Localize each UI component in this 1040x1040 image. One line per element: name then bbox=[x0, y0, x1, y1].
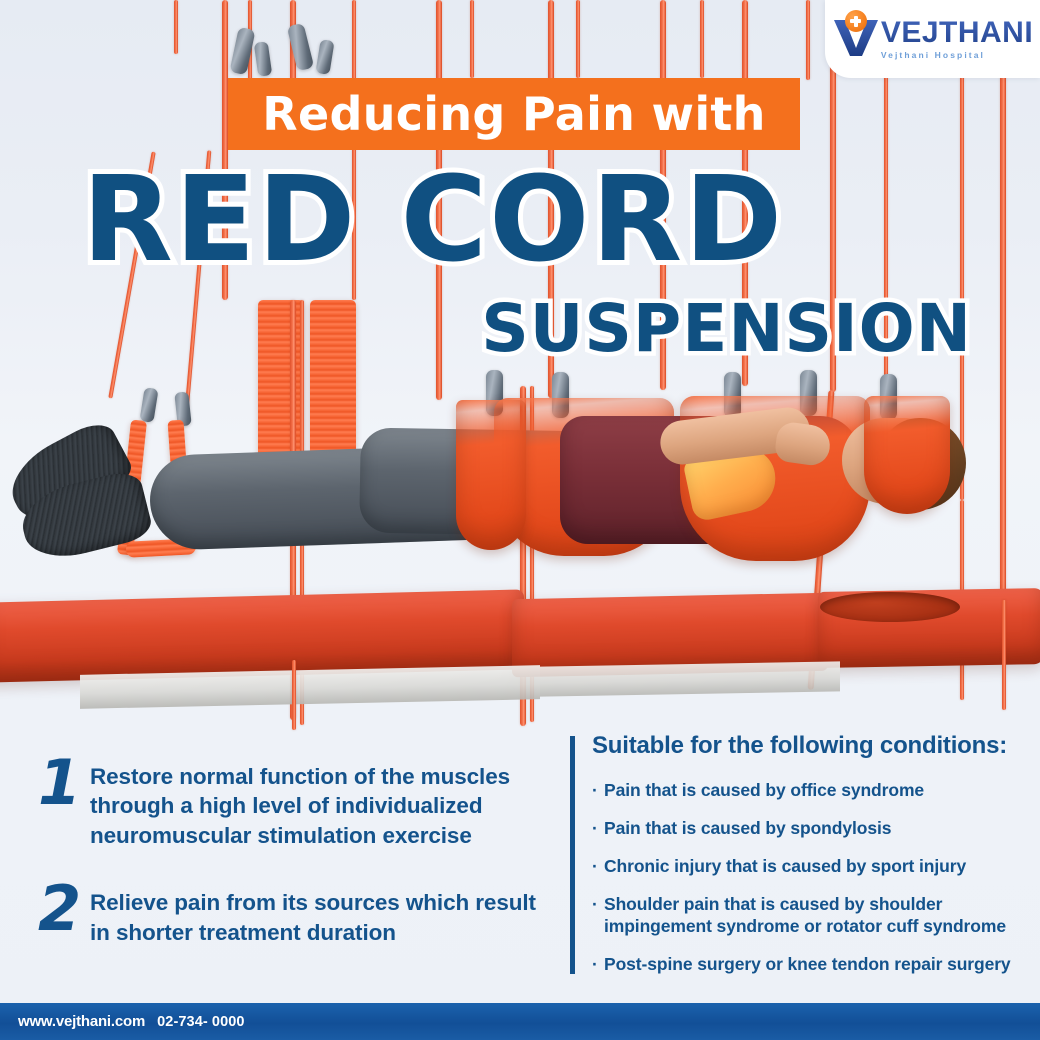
hospital-logo: VEJTHANI Vejthani Hospital bbox=[825, 0, 1040, 78]
title-banner: Reducing Pain with bbox=[228, 78, 800, 150]
footer-phone[interactable]: 02-734- 0000 bbox=[157, 1014, 244, 1030]
suspension-cord bbox=[470, 0, 474, 78]
condition-text: Pain that is caused by office syndrome bbox=[604, 779, 1040, 801]
benefits-list: 1 Restore normal function of the muscles… bbox=[38, 758, 558, 981]
conditions-panel: Suitable for the following conditions: ·… bbox=[570, 732, 1040, 991]
bullet-icon: · bbox=[592, 817, 604, 839]
suspension-cord bbox=[700, 0, 704, 78]
condition-item: · Shoulder pain that is caused by should… bbox=[592, 893, 1040, 937]
condition-item: · Post-spine surgery or knee tendon repa… bbox=[592, 953, 1040, 975]
suspension-cord bbox=[806, 0, 810, 80]
benefit-number: 2 bbox=[38, 884, 90, 935]
logo-name: VEJTHANI bbox=[881, 18, 1033, 48]
condition-item: · Pain that is caused by spondylosis bbox=[592, 817, 1040, 839]
condition-item: · Chronic injury that is caused by sport… bbox=[592, 855, 1040, 877]
footer-website[interactable]: www.vejthani.com bbox=[18, 1013, 145, 1030]
benefit-text: Restore normal function of the muscles t… bbox=[90, 762, 558, 850]
banner-text: Reducing Pain with bbox=[262, 87, 765, 141]
title-sub: SUSPENSION bbox=[82, 296, 972, 362]
condition-text: Chronic injury that is caused by sport i… bbox=[604, 855, 1040, 877]
medical-cross-icon bbox=[845, 10, 867, 32]
benefit-item: 1 Restore normal function of the muscles… bbox=[38, 758, 558, 850]
bullet-icon: · bbox=[592, 953, 604, 975]
logo-v-mark bbox=[832, 14, 880, 58]
benefit-number: 1 bbox=[38, 758, 90, 809]
table-base bbox=[540, 661, 840, 696]
bullet-icon: · bbox=[592, 779, 604, 801]
conditions-divider bbox=[570, 736, 575, 974]
logo-subtitle: Vejthani Hospital bbox=[881, 50, 1033, 60]
head-sling bbox=[864, 396, 950, 514]
suspension-cord bbox=[292, 660, 296, 730]
suspension-cord bbox=[174, 0, 178, 54]
bullet-icon: · bbox=[592, 893, 604, 937]
title-main: RED CORD bbox=[82, 163, 972, 275]
carabiner-clip bbox=[315, 39, 334, 75]
suspension-cord bbox=[1000, 0, 1006, 620]
benefit-item: 2 Relieve pain from its sources which re… bbox=[38, 884, 558, 947]
carabiner-clip bbox=[139, 387, 158, 423]
condition-item: · Pain that is caused by office syndrome bbox=[592, 779, 1040, 801]
condition-text: Post-spine surgery or knee tendon repair… bbox=[604, 953, 1040, 975]
condition-text: Shoulder pain that is caused by shoulder… bbox=[604, 893, 1040, 937]
poster-root: VEJTHANI Vejthani Hospital Reducing Pain… bbox=[0, 0, 1040, 1040]
shoulder-sling bbox=[456, 400, 526, 550]
benefit-text: Relieve pain from its sources which resu… bbox=[90, 888, 558, 947]
carabiner-clip bbox=[254, 41, 273, 77]
bullet-icon: · bbox=[592, 855, 604, 877]
conditions-title: Suitable for the following conditions: bbox=[592, 732, 1040, 760]
suspension-cord bbox=[1002, 600, 1006, 710]
footer-bar: www.vejthani.com 02-734- 0000 bbox=[0, 1003, 1040, 1040]
condition-text: Pain that is caused by spondylosis bbox=[604, 817, 1040, 839]
table-face-hole bbox=[820, 592, 960, 622]
suspension-cord bbox=[576, 0, 580, 78]
